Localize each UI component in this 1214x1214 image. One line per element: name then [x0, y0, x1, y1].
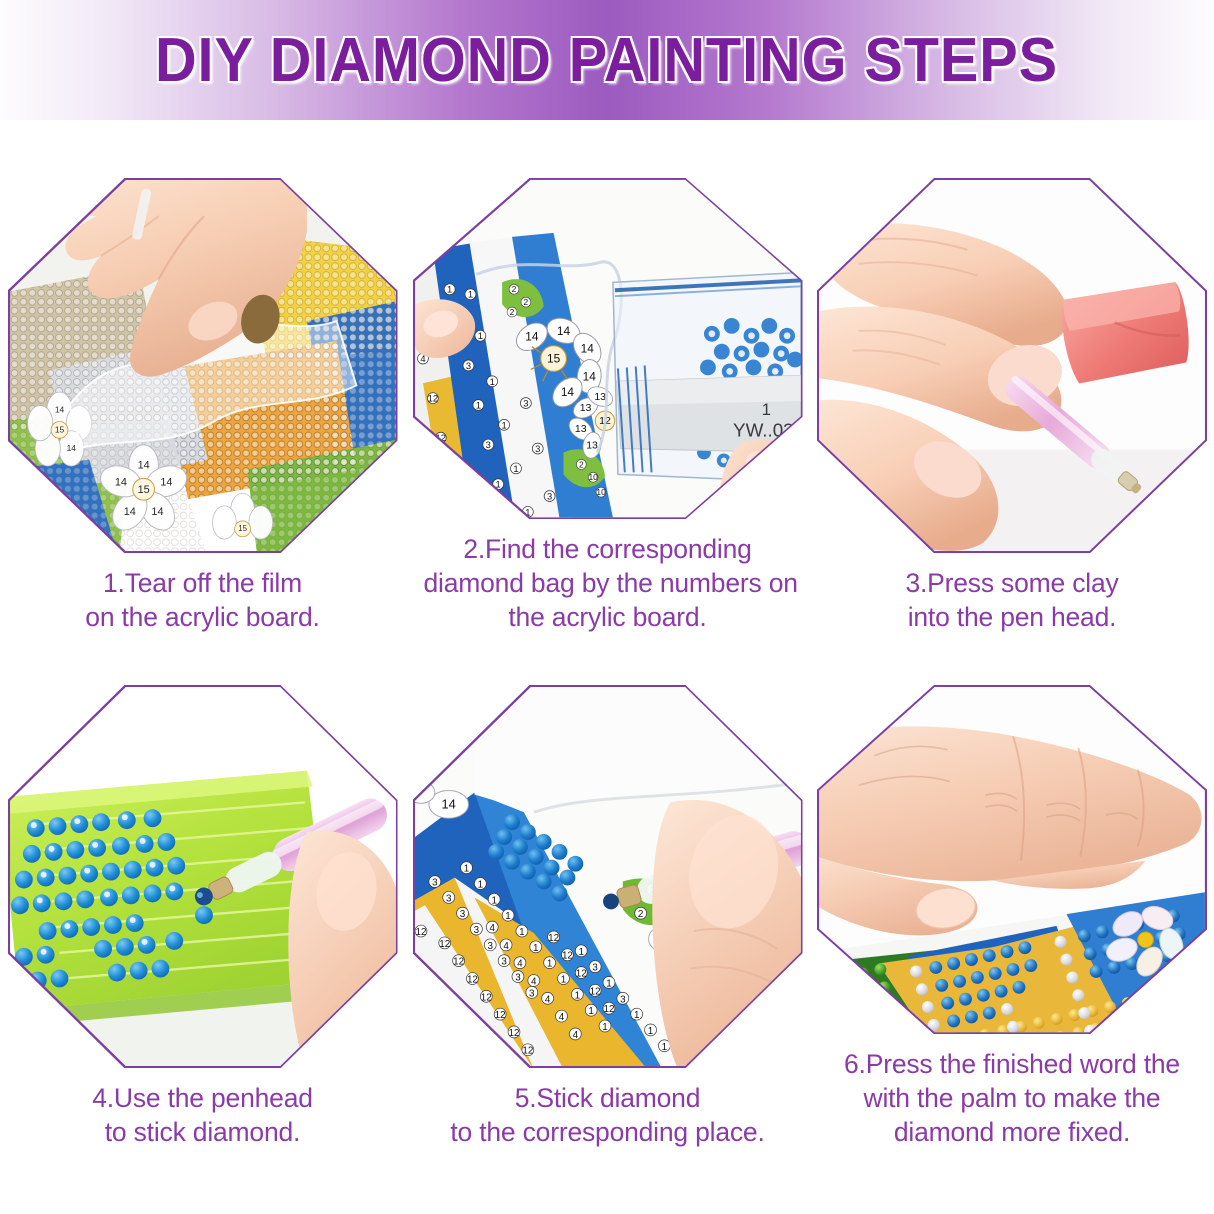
svg-text:14: 14	[114, 476, 126, 488]
svg-text:13: 13	[574, 423, 586, 435]
step-4-caption: 4.Use the penhead to stick diamond.	[19, 1082, 387, 1150]
svg-text:14: 14	[123, 506, 135, 518]
svg-text:12: 12	[603, 1004, 614, 1015]
svg-text:1: 1	[588, 1006, 594, 1017]
svg-text:10: 10	[596, 487, 606, 497]
svg-text:3: 3	[445, 893, 451, 904]
svg-text:4: 4	[517, 959, 523, 970]
svg-text:15: 15	[238, 524, 247, 533]
svg-text:2: 2	[511, 284, 516, 294]
step-6-caption: 6.Press the finished word the with the p…	[819, 1048, 1205, 1150]
svg-text:3: 3	[535, 443, 540, 454]
svg-text:14: 14	[66, 443, 76, 453]
svg-text:4: 4	[531, 976, 537, 987]
svg-text:1: 1	[467, 289, 472, 300]
svg-text:3: 3	[547, 491, 552, 502]
svg-text:12: 12	[453, 957, 464, 968]
svg-text:1: 1	[633, 1010, 639, 1021]
svg-text:1: 1	[477, 879, 483, 890]
svg-text:3: 3	[485, 439, 490, 450]
svg-text:12: 12	[548, 933, 559, 944]
caption-line: the acrylic board.	[424, 601, 792, 635]
steps-grid: 15 14 14 14 14 14	[0, 120, 1214, 1214]
svg-text:3: 3	[465, 360, 470, 371]
step-3-octagon-frame	[817, 178, 1207, 553]
svg-text:4: 4	[544, 994, 550, 1005]
svg-text:3: 3	[523, 398, 528, 409]
caption-line: 6.Press the finished word the	[819, 1048, 1205, 1082]
svg-text:12: 12	[575, 969, 586, 980]
svg-text:1: 1	[606, 978, 612, 989]
svg-text:12: 12	[522, 1046, 533, 1057]
svg-text:1: 1	[489, 376, 494, 387]
svg-text:15: 15	[546, 351, 560, 365]
svg-text:13: 13	[586, 439, 598, 451]
step-5-octagon-frame: 3 3 3 3 3 3 3 3 1 1 1 1 1	[413, 685, 803, 1068]
svg-text:1: 1	[505, 911, 511, 922]
svg-text:3: 3	[529, 988, 535, 999]
svg-text:12: 12	[427, 976, 438, 987]
svg-text:1: 1	[602, 1022, 608, 1033]
caption-line: 4.Use the penhead	[19, 1082, 387, 1116]
step-cell-6: 6.Press the finished word the with the p…	[810, 635, 1214, 1150]
svg-text:14: 14	[441, 796, 455, 811]
step-cell-3: 3.Press some clay into the pen head.	[810, 120, 1214, 635]
caption-line: on the acrylic board.	[19, 601, 387, 635]
svg-text:3: 3	[487, 941, 493, 952]
svg-text:1: 1	[491, 895, 497, 906]
svg-text:4: 4	[558, 1012, 564, 1023]
caption-line: 5.Stick diamond	[424, 1082, 792, 1116]
svg-text:14: 14	[54, 404, 64, 414]
svg-text:1: 1	[578, 947, 584, 958]
step-6-octagon-frame	[817, 685, 1207, 1034]
bag-label-top: 1	[761, 400, 770, 419]
svg-text:13: 13	[579, 402, 591, 414]
caption-line: to stick diamond.	[19, 1116, 387, 1150]
svg-text:14: 14	[556, 324, 570, 338]
caption-line: 2.Find the corresponding	[424, 533, 792, 567]
header-banner: DIY DIAMOND PAINTING STEPS	[0, 0, 1214, 120]
caption-line: to the corresponding place.	[424, 1116, 792, 1150]
page-title: DIY DIAMOND PAINTING STEPS	[155, 25, 1058, 96]
svg-text:4: 4	[426, 432, 431, 443]
svg-text:14: 14	[525, 330, 539, 344]
svg-text:12: 12	[508, 1028, 519, 1039]
svg-text:12: 12	[439, 939, 450, 950]
svg-text:1: 1	[647, 1026, 653, 1037]
svg-text:1: 1	[533, 943, 539, 954]
svg-text:1: 1	[463, 864, 469, 875]
svg-text:1: 1	[475, 400, 480, 411]
svg-text:2: 2	[578, 459, 583, 469]
svg-text:14: 14	[137, 460, 149, 472]
svg-text:12: 12	[480, 992, 491, 1003]
svg-text:1: 1	[513, 463, 518, 474]
svg-text:12: 12	[561, 951, 572, 962]
svg-text:14: 14	[582, 369, 596, 383]
svg-text:14: 14	[580, 342, 594, 356]
svg-text:3: 3	[505, 516, 510, 517]
step-4-octagon-frame	[8, 685, 398, 1068]
svg-text:1: 1	[661, 1042, 667, 1053]
svg-text:4: 4	[489, 923, 495, 934]
svg-text:4: 4	[572, 1030, 578, 1041]
caption-line: diamond more fixed.	[819, 1116, 1205, 1150]
svg-text:12: 12	[494, 1010, 505, 1021]
step-cell-1: 15 14 14 14 14 14	[0, 120, 405, 635]
svg-text:1: 1	[447, 284, 452, 295]
svg-text:12: 12	[415, 927, 426, 938]
svg-text:3: 3	[515, 972, 521, 983]
svg-text:1: 1	[560, 974, 566, 985]
svg-text:2: 2	[523, 297, 528, 307]
caption-line: diamond bag by the numbers on	[424, 567, 792, 601]
svg-text:3: 3	[592, 963, 598, 974]
step-2-octagon-frame: 1 1 3 1 3 1 3 1 1 1 1 1 1	[413, 178, 803, 519]
svg-text:3: 3	[432, 877, 438, 888]
svg-text:15: 15	[137, 484, 149, 496]
caption-line: with the palm to make the	[819, 1082, 1205, 1116]
svg-text:10: 10	[588, 472, 598, 482]
caption-line: 3.Press some clay	[828, 567, 1196, 601]
svg-text:1: 1	[519, 927, 525, 938]
svg-text:3: 3	[459, 909, 465, 920]
svg-text:14: 14	[151, 506, 163, 518]
svg-text:12: 12	[466, 974, 477, 985]
svg-text:15: 15	[54, 424, 64, 434]
svg-text:4: 4	[503, 941, 509, 952]
step-1-octagon-frame: 15 14 14 14 14 14	[8, 178, 398, 553]
svg-text:13: 13	[594, 391, 606, 403]
bag-label-bottom: YW..03	[733, 420, 794, 441]
svg-text:12: 12	[427, 393, 437, 404]
svg-text:12: 12	[589, 986, 600, 997]
svg-text:14: 14	[734, 1017, 748, 1031]
svg-text:2: 2	[509, 307, 514, 317]
svg-text:3: 3	[620, 994, 626, 1005]
svg-text:2: 2	[637, 909, 643, 920]
step-2-caption: 2.Find the corresponding diamond bag by …	[424, 533, 792, 635]
svg-text:3: 3	[473, 925, 479, 936]
step-1-caption: 1.Tear off the film on the acrylic board…	[19, 567, 387, 635]
step-5-caption: 5.Stick diamond to the corresponding pla…	[424, 1082, 792, 1150]
caption-line: into the pen head.	[828, 601, 1196, 635]
svg-text:14: 14	[160, 476, 172, 488]
svg-text:12: 12	[445, 477, 455, 488]
svg-text:1: 1	[574, 990, 580, 1001]
step-3-caption: 3.Press some clay into the pen head.	[828, 567, 1196, 635]
step-cell-2: 1 1 3 1 3 1 3 1 1 1 1 1 1	[405, 120, 810, 635]
svg-text:1: 1	[501, 419, 506, 430]
svg-text:1: 1	[477, 330, 482, 341]
svg-text:1: 1	[546, 959, 552, 970]
svg-text:14: 14	[560, 385, 574, 399]
step-cell-4: 4.Use the penhead to stick diamond.	[0, 635, 405, 1150]
step-cell-5: 3 3 3 3 3 3 3 3 1 1 1 1 1	[405, 635, 810, 1150]
svg-text:3: 3	[501, 957, 507, 968]
caption-line: 1.Tear off the film	[19, 567, 387, 601]
